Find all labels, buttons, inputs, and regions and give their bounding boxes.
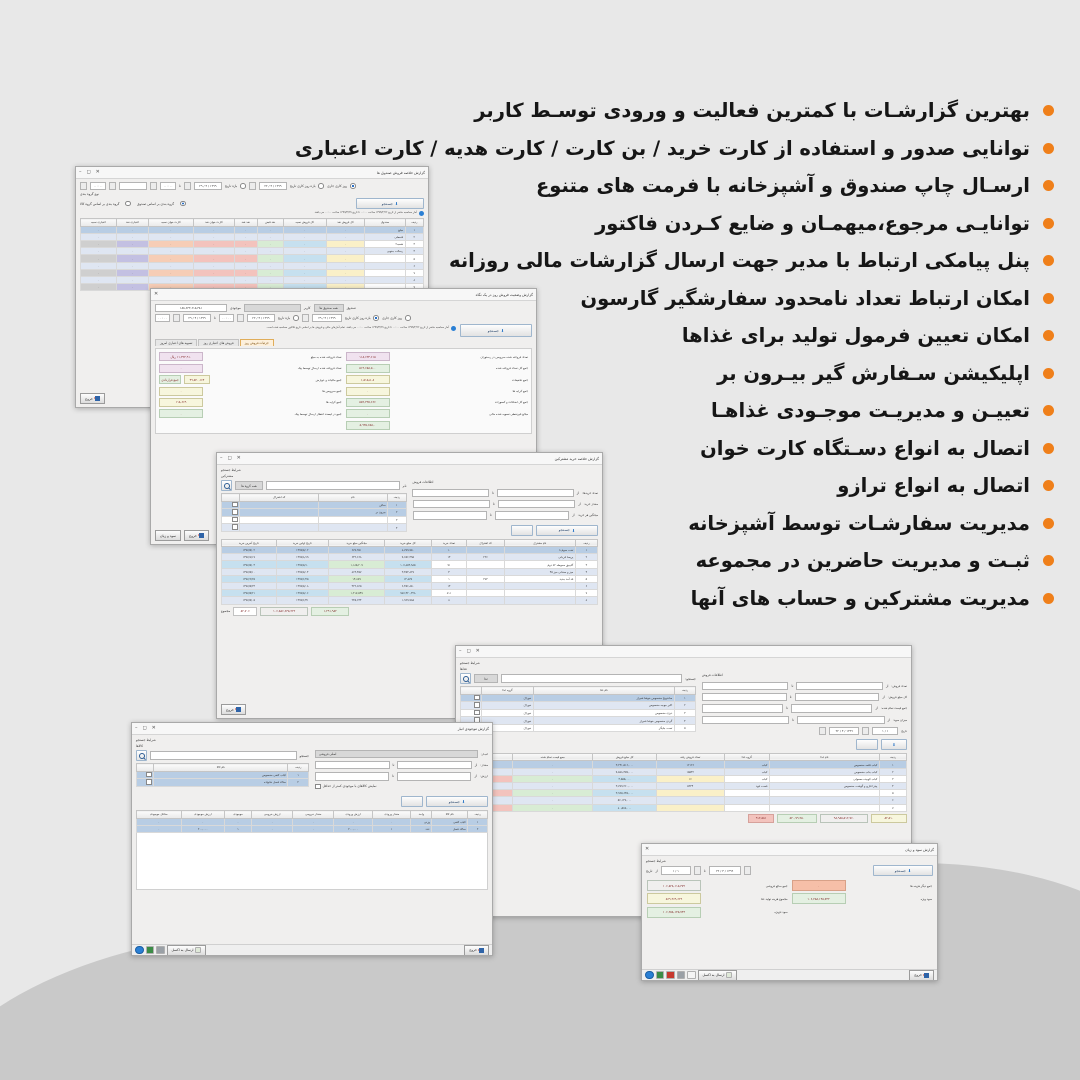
row-checkbox[interactable] [232, 509, 238, 515]
search-label: جستجو: [685, 677, 696, 681]
table-cell [724, 804, 769, 811]
goods-search-row: جستجو [136, 750, 309, 761]
date-spinner[interactable] [744, 866, 751, 874]
user-select[interactable] [244, 304, 301, 312]
table-cell: ۰ [116, 226, 148, 233]
titlebar: – ◻ ✕ [456, 646, 911, 658]
search-arrow-icon: ⬇ [892, 742, 895, 747]
table-cell: ۹۸۷,۴۲۰,۳۲۸ [385, 590, 431, 597]
row-checkbox-cell[interactable] [222, 509, 240, 517]
count-to-input[interactable] [702, 682, 789, 690]
table-cell: ۰ [251, 825, 293, 832]
search-button[interactable]: ⬇ جسـتجو [873, 865, 933, 876]
radio-from-work-day[interactable] [373, 315, 379, 321]
col-header: ارزش موجودی [181, 811, 224, 819]
excel-export-icon[interactable] [656, 971, 665, 980]
cost-to-input[interactable] [702, 704, 783, 712]
row-checkbox-cell[interactable] [222, 516, 240, 524]
clear-button[interactable] [401, 796, 423, 807]
table-cell: کباب بناب مخصوص [769, 768, 879, 775]
radio-from-work-day-label: بازه روز کاری تاریخ [345, 316, 371, 320]
from-label: از [882, 695, 884, 699]
table-cell: ۴ [431, 568, 467, 575]
minimize-icon[interactable]: – [459, 649, 462, 654]
row-checkbox-cell[interactable] [461, 694, 482, 702]
table-cell: ۱۳۹۷/۵/۱۰ [222, 568, 277, 575]
date-range-from-input[interactable]: ۱۳۹۹ / ۴ / ۲۹ [194, 182, 222, 190]
qty-from-input[interactable] [397, 761, 472, 769]
profit-field: جمع دیگر هزینه ها ۰ [792, 880, 933, 891]
send-excel-button[interactable]: ارسال به اکسل [167, 945, 207, 956]
table-cell: ۱,۹۶۹,۹۸۵ [385, 597, 431, 604]
table-cell: ۲۴۵,۶۴۴ [328, 597, 384, 604]
summary-field: جمع در لیست انتظار ارسال توسط پیک۰ [159, 409, 342, 418]
feature-item: مدیریت سفارشـات توسط آشپزخانه [494, 505, 1054, 543]
search-button[interactable]: ⬇ جسـتجو [426, 796, 488, 807]
qty-to-input[interactable] [315, 761, 390, 769]
table-header-row: ردیف نام کد اشتراک [222, 494, 407, 502]
col-header: تاریخ آخرین خرید [222, 539, 277, 547]
radio-group-cash-label: گروه بندی بر اساس صندوق [137, 202, 174, 206]
min-stock-checkbox-label: نمایش کالاهای با موجودی کمتر از حداقل [323, 784, 377, 788]
radio-group-type[interactable] [125, 201, 131, 207]
profit-field: سود ناویژه ۱۰۶,۲۵۸,۱۴۵,۷۴۳ [647, 907, 788, 918]
row-checkbox[interactable] [232, 517, 238, 523]
table-cell: ۰ [116, 241, 148, 248]
close-icon[interactable]: ✕ [237, 456, 241, 461]
table-row[interactable]: ۲فتحعلی۰۰۰۰۰۰۰۰ [81, 233, 424, 240]
col-header: گروه غذا [482, 687, 534, 695]
table-cell: ۰ [137, 825, 182, 832]
field-label: مجموع هزینه تولید غذا [704, 897, 788, 901]
page-spinner[interactable] [862, 727, 869, 735]
table-cell: کباب [724, 761, 769, 768]
field-label: جمع سرویس ها [206, 389, 342, 393]
date-to-input[interactable]: ۱۳۹۹ / ۴ / ۲۹ [183, 314, 211, 322]
price-to-input[interactable] [315, 772, 389, 780]
help-icon[interactable] [135, 946, 144, 955]
total-value: ۸۲,۵۱۰ [871, 814, 907, 823]
food-search-row: جستجو: غذا [460, 673, 696, 684]
profit-fields: جمع دیگر هزینه ها ۰ سود ویژه ۱۰۶,۲۵۸,۱۴۵… [646, 878, 933, 920]
radio-work-day[interactable] [350, 183, 356, 189]
foods-table[interactable]: ردیف نام غذا گروه غذا ۱ساندویچ مخصوص خوش… [460, 686, 696, 732]
row-checkbox[interactable] [232, 502, 238, 508]
window-title: گزارش سود و زیان [905, 848, 934, 852]
titlebar: گزارش سود و زیان ✕ [642, 844, 937, 856]
search-icon[interactable] [221, 480, 232, 491]
table-row[interactable]: ۲اکبر جوجه مخصوصخوراک [461, 702, 696, 710]
col-header: کل مبلغ خرید [385, 539, 431, 547]
table-cell: ۱۵۵۴۲ [656, 768, 724, 775]
table-row[interactable]: ۱مبلغ۰۰۰۰۰۰۰۰ [81, 226, 424, 233]
exit-button[interactable]: خروج [909, 970, 934, 981]
avg-to-input[interactable] [413, 511, 487, 519]
table-cell [365, 277, 405, 284]
subscriber-name-input[interactable] [266, 481, 400, 489]
table-cell: ۰ [193, 248, 234, 255]
date-from-spinner[interactable] [249, 182, 256, 190]
table-cell: ۰ [513, 775, 593, 782]
bullet-dot-icon [1043, 105, 1054, 116]
feature-list: بهترین گزارشـات با کمترین فعالیت و ورودی… [494, 92, 1054, 617]
window-body: شرایط جستجو ⬇ جسـتجو ۱۳۹۹ / ۴ / ۲۲ تا ۱ … [642, 856, 937, 923]
to-label: تا [704, 869, 706, 873]
table-cell: ۰ [148, 233, 193, 240]
food-select[interactable]: غذا [474, 674, 498, 682]
filters-title: شرایط جستجو [460, 661, 480, 665]
min-stock-checkbox[interactable] [315, 784, 321, 790]
col-header: نام غذا [769, 753, 879, 761]
table-row[interactable]: ۵۳,۹۶۵,۶۴۵,۰۰۰۰۴۵,۶۴۵,۰۰۰ [461, 790, 907, 797]
bullet-dot-icon [1043, 518, 1054, 529]
to-label: تا [490, 513, 492, 517]
amount-to-input[interactable] [413, 500, 490, 508]
close-icon[interactable]: ✕ [645, 847, 649, 852]
tabs[interactable]: جزئیات فروش روز فروش های اعتباری روز تسو… [155, 339, 532, 346]
table-cell [769, 797, 879, 804]
hour-from-input[interactable]: ۰۰ : ۰۰ [160, 182, 176, 190]
table-cell: ۰ [257, 255, 283, 262]
to-label: تا [786, 706, 788, 710]
row-checkbox-cell[interactable] [461, 709, 482, 717]
bullet-dot-icon [1043, 218, 1054, 229]
send-excel-button[interactable]: ارسال به اکسل [698, 970, 738, 981]
table-cell: ۰ [513, 804, 593, 811]
table-cell: ۹,۶۵۶,۴۹۵ [385, 554, 431, 561]
table-row[interactable]: ۴ [222, 524, 407, 532]
table-cell: ۰ [234, 255, 257, 262]
table-row[interactable]: ۲سالاد فصل خانواده [137, 779, 309, 787]
summary-field: جمع کرایه ها۱۱۸,۶۶۹ [159, 398, 342, 407]
minimize-icon[interactable]: – [220, 456, 223, 461]
table-row[interactable]: ۱کباب کتفی مخصوص [137, 771, 309, 779]
table-cell: ۰ [283, 226, 326, 233]
table-row[interactable]: ۲بیرون بر [222, 509, 407, 517]
date-main-input[interactable]: ۱۳۹۹ / ۴ / ۲۹ [312, 314, 342, 322]
row-checkbox[interactable] [146, 772, 152, 778]
tab-credit-settlements[interactable]: تسویه های اعتباری امروز [155, 339, 197, 346]
date-label: تاریخ [646, 869, 652, 873]
group-select[interactable]: همه گروه ها [235, 481, 263, 489]
minimize-icon[interactable]: – [135, 726, 138, 731]
date-from-input[interactable]: ۱۳۹۹ / ۴ / ۲۲ [259, 182, 287, 190]
date-from-spinner[interactable] [237, 314, 244, 322]
date-main-spinner[interactable] [302, 314, 309, 322]
table-cell: وزنی [411, 818, 432, 825]
table-cell: ۰ [257, 226, 283, 233]
exit-icon [236, 707, 241, 712]
feature-item: امکان ارتباط تعداد نامحدود سفارشگیر گارس… [494, 280, 1054, 318]
table-cell: ۸ [405, 277, 423, 284]
maximize-icon[interactable]: ◻ [228, 456, 232, 461]
tab-daily-details[interactable]: جزئیات فروش روز [240, 339, 274, 346]
table-row[interactable]: ۶۰۰۰۰۰۰۰۰ [81, 262, 424, 269]
table-row[interactable]: ۳کباب کوبیده معمولیکباب۱۶۳,۵۵۵,۰۰۰۰۳,۵۵۵… [461, 775, 907, 782]
table-row[interactable]: ۷۸۰,۵۸۹,۰۰۰۰۸۰,۵۹۹,۰۰۰ [461, 804, 907, 811]
window-buttons[interactable]: – ◻ ✕ [459, 649, 480, 654]
goods-search-input[interactable] [150, 751, 297, 759]
row-checkbox[interactable] [146, 779, 152, 785]
table-header-row: ردیف نام غذا گروه غذا تعداد فروش رفته کل… [461, 753, 907, 761]
cash-select[interactable]: همه صندوق ها [314, 304, 344, 312]
anbar-select[interactable]: اصلی فروشی [315, 750, 478, 758]
table-cell: ۲ [468, 825, 488, 832]
window-buttons[interactable]: – ◻ ✕ [135, 726, 156, 731]
table-cell [318, 516, 388, 524]
table-row[interactable]: ۴رسالت جنوبی۰۰۰۰۰۰۰۰ [81, 248, 424, 255]
table-cell: ۰ [193, 226, 234, 233]
page-input[interactable]: ۱ / ۱ [661, 866, 691, 874]
balance-value: ۱۸۸,۶۳۳,۶۱۵,۳۸۱ [155, 304, 227, 312]
table-row[interactable]: ۱کباب کتفیوزنی۰۰۰۰۰۰۰ [137, 818, 488, 825]
pdf-icon[interactable] [666, 971, 675, 980]
row-checkbox[interactable] [232, 524, 238, 530]
table-header-row: ردیف نام غذا گروه غذا [461, 687, 696, 695]
col-header: ارزش خروجی [251, 811, 293, 819]
row-checkbox-cell[interactable] [222, 524, 240, 532]
amount-to-input[interactable] [702, 693, 787, 701]
table-cell: گردن مخصوص خوشا شیراز [533, 717, 674, 725]
window-buttons[interactable]: – ◻ ✕ [220, 456, 241, 461]
table-row[interactable]: ۳شعبه۲۰۰۰۰۰۰۰۰ [81, 241, 424, 248]
table-row[interactable]: ۵تست جایگرخوراک [461, 724, 696, 732]
profit-field: جمع سالع فروشی ۱۰۶,۸۲۸,۱۱۵,۳۷۲ [647, 880, 788, 891]
table-cell: شعبه۲ [365, 241, 405, 248]
table-cell: ۰ [225, 818, 252, 825]
filters-title: شرایط جستجو [136, 738, 156, 742]
feature-item: اتصال به انواع دسـتگاه کارت خوان [494, 430, 1054, 468]
col-header: ردیف [388, 494, 406, 502]
filter-label: جمع قیمت تمام شده: [881, 706, 907, 710]
table-cell: ۰ [81, 241, 117, 248]
col-header: کارت خوان نقد [193, 219, 234, 227]
table-cell: ۶ [405, 262, 423, 269]
window-title: گزارش خلاصه فروش صندوق ها [377, 171, 425, 175]
help-icon[interactable] [645, 971, 654, 980]
page-input[interactable]: ۱ / ۱ [872, 727, 898, 735]
hour-to-input[interactable]: ۰۰ : ۰۰ [155, 314, 170, 322]
profit-field: مجموع هزینه تولید غذا ۵۶۹,۹۶۹,۶۲۹ [647, 893, 788, 904]
hour-from-spinner[interactable] [150, 182, 157, 190]
table-row[interactable]: ۱سالن [222, 501, 407, 509]
window-profit-loss[interactable]: گزارش سود و زیان ✕ شرایط جستجو ⬇ جسـتجو … [641, 843, 938, 981]
table-row[interactable]: ۷۰۰۰۰۰۰۰۰ [81, 269, 424, 276]
summary-fields: تعداد فروخته شده سرویس در رستوران۱۱۸,۶۳۳… [155, 348, 532, 433]
profit-loss-button[interactable]: سود و زیان [155, 530, 181, 541]
table-cell: ۰ [81, 269, 117, 276]
close-icon[interactable]: ✕ [152, 726, 156, 731]
exit-button[interactable]: خروج [80, 393, 105, 404]
minimize-icon[interactable]: – [79, 170, 82, 175]
search-button[interactable]: ⬇ جسـتجو [356, 198, 424, 209]
table-row[interactable]: ۴گردن مخصوص خوشا شیرازخوراک [461, 717, 696, 725]
tab-credit-sales[interactable]: فروش های اعتباری روز [198, 339, 238, 346]
close-icon[interactable]: ✕ [154, 292, 158, 297]
table-row[interactable]: ۳دیزی مخصوصخوراک [461, 709, 696, 717]
table-cell: ۶,۴۵۶,۸۵۰ [385, 583, 431, 590]
date-range-to-input[interactable] [119, 182, 147, 190]
page-spinner[interactable] [694, 866, 701, 874]
close-icon[interactable]: ✕ [476, 649, 480, 654]
amount-from-input[interactable] [795, 693, 880, 701]
maximize-icon[interactable]: ◻ [143, 726, 147, 731]
row-checkbox[interactable] [474, 710, 480, 716]
table-cell: ۱۲۱۲۶ [656, 761, 724, 768]
exit-button[interactable]: خروج [221, 704, 246, 715]
from-label: از [888, 718, 890, 722]
table-row[interactable]: ۵۰۰۰۰۰۰۰۰ [81, 255, 424, 262]
exit-label: خروج [469, 948, 477, 952]
cash-summary-table[interactable]: ردیف صندوق کل فروش نقد کل فروش نسیه نقد … [80, 218, 424, 291]
table-cell: ۵۲۴۴ [656, 783, 724, 790]
total-value: ۹۱۲,۵۸۱ [748, 814, 774, 823]
summary-field: جمع سرویس ها۰ [159, 387, 342, 396]
feature-label: مدیریت مشترکین و حساب های آنها [691, 589, 1030, 609]
clear-button[interactable] [856, 739, 878, 750]
window-buttons[interactable]: – ◻ ✕ [79, 170, 100, 175]
table-row[interactable]: ۲کباب بناب مخصوصکباب۱۵۵۴۲۹,۵۸۸,۳۵۹,۰۰۰۰۸… [461, 768, 907, 775]
toolbar-icons[interactable]: ارسال به اکسل [135, 945, 206, 956]
goods-table[interactable]: ردیف نام کالا ۱کباب کتفی مخصوص۲سالاد فصل… [136, 763, 309, 787]
table-cell: ۷ [405, 269, 423, 276]
radio-group-cash[interactable] [180, 201, 186, 207]
to-label: تا [392, 774, 394, 778]
window-body: شرایط جستجو کالاها انبــار: اصلی فروشی م… [132, 735, 492, 893]
date-input[interactable]: ۱۳۹۹ / ۴ / ۲۲ [709, 866, 741, 874]
table-row[interactable]: ۱ساندویچ مخصوص خوشا شیرازخوراک [461, 694, 696, 702]
row-checkbox-cell[interactable] [461, 702, 482, 710]
table-cell: ۱۳۹۷/۶/۲۵ [276, 575, 328, 582]
table-cell: فتحعلی [365, 233, 405, 240]
close-icon[interactable]: ✕ [96, 170, 100, 175]
window-buttons[interactable]: ✕ [645, 847, 649, 852]
table-cell: ۲ [388, 509, 406, 517]
total-value: ۱,۲۹۱,۹۸۲ [311, 607, 349, 616]
field-value: ۰ [346, 387, 390, 396]
exit-icon [199, 533, 204, 538]
table-row[interactable]: ۶۵۶,۱۲۹,۰۰۰۰۵۶,۱۲۹,۰۰۰ [461, 797, 907, 804]
search-button[interactable]: ⬇ [881, 739, 907, 750]
subscribers-table[interactable]: ردیف نام کد اشتراک ۱سالن۲بیرون بر۳۴ [221, 493, 407, 532]
maximize-icon[interactable]: ◻ [87, 170, 91, 175]
table-cell: ۱۳۹۷/۵/۰۲ [222, 547, 277, 554]
name-label: نام [403, 484, 407, 488]
row-checkbox-cell[interactable] [137, 771, 154, 779]
row-checkbox-cell[interactable] [222, 501, 240, 509]
table-cell: ۰ [326, 262, 365, 269]
col-header: ردیف [674, 687, 695, 695]
exit-button[interactable]: خروج [464, 945, 489, 956]
print-icon[interactable] [677, 971, 686, 980]
table-cell: ۰ [116, 233, 148, 240]
field-value: ۴۹,۵۲۰,۱۶۴ [184, 375, 210, 384]
search-icon[interactable] [460, 673, 471, 684]
table-cell: ۰ [283, 277, 326, 284]
hour-to-input[interactable]: ۰۰ : ۰۰ [90, 182, 106, 190]
price-from-input[interactable] [397, 772, 471, 780]
date-to-spinner[interactable] [173, 314, 180, 322]
excel-export-icon[interactable] [146, 946, 155, 955]
table-cell: ۰ [234, 248, 257, 255]
date-range-to-spinner[interactable] [109, 182, 116, 190]
table-row[interactable]: ۱کباب قلمه مخصوصکباب۱۲۱۲۶۳,۲۴۱,۵۱۶,۰۰۰۰۴… [461, 761, 907, 768]
profit-from-input[interactable] [797, 716, 884, 724]
exit-button[interactable]: خروج [184, 530, 209, 541]
inventory-table[interactable]: ردیف نام کالا واحد مقدار ورودی ارزش ورود… [136, 810, 488, 833]
feature-label: پنل پیامکی ارتباط با مدیر جهت ارسال گزار… [449, 251, 1030, 271]
profit-to-input[interactable] [702, 716, 789, 724]
table-row[interactable]: ۲سالاد فصلعدد۱۲۰۰,۰۰۰۰۰۱۲۰۰,۰۰۰۰ [137, 825, 488, 832]
toolbar-icons[interactable]: ارسال به اکسل [645, 970, 737, 981]
filter-row: جمع قیمت تمام شده:ازتا [702, 704, 907, 712]
table-cell: ۰ [148, 269, 193, 276]
count-to-input[interactable] [412, 489, 489, 497]
table-cell: کباب [724, 775, 769, 782]
table-cell: ۱۳۹۷/۵/۰۲ [276, 547, 328, 554]
maximize-icon[interactable]: ◻ [467, 649, 471, 654]
col-header: موجودی [225, 811, 252, 819]
cost-from-input[interactable] [791, 704, 872, 712]
radio-work-day[interactable] [405, 315, 411, 321]
hour-from-input[interactable]: ۰۰ : ۰۰ [219, 314, 234, 322]
date-spinner[interactable] [819, 727, 826, 735]
print-icon[interactable] [156, 946, 165, 955]
sales-info-label: اطلاعات فروش [702, 673, 723, 677]
table-row[interactable]: ۴پیتزا قارچ و گوشت مخصوصفست فود۵۲۴۴۳,۷۷۹… [461, 783, 907, 790]
field-value: ۱۱,۳۹۳,۹۱۰ ریال [159, 352, 203, 361]
radio-group-type-label: گروه بندی بر اساس گروه کالا [80, 202, 119, 206]
from-label: از [655, 869, 657, 873]
table-cell: ۰ [513, 768, 593, 775]
radio-from-work-day[interactable] [318, 183, 324, 189]
hour-to-spinner[interactable] [80, 182, 87, 190]
table-cell: ۰ [148, 226, 193, 233]
table-cell: ۰ [148, 277, 193, 284]
radio-date-range-label: بازه تاریخ [278, 316, 290, 320]
col-header: نام کالا [432, 811, 468, 819]
table-row[interactable]: ۸۰۰۰۰۰۰۰۰ [81, 277, 424, 284]
window-buttons[interactable]: ✕ [154, 292, 158, 297]
table-cell: ۰ [193, 269, 234, 276]
settings-icon[interactable] [687, 971, 696, 980]
table-cell: مبلغ [365, 226, 405, 233]
radio-date-range[interactable] [293, 315, 299, 321]
col-header: نام [318, 494, 388, 502]
row-checkbox[interactable] [474, 702, 480, 708]
table-cell: ۰ [326, 277, 365, 284]
table-empty-area [136, 833, 488, 890]
date-range-from-spinner[interactable] [184, 182, 191, 190]
food-profit-table[interactable]: ردیف نام غذا گروه غذا تعداد فروش رفته کل… [460, 753, 907, 812]
table-cell: ۰ [513, 790, 593, 797]
search-icon[interactable] [136, 750, 147, 761]
table-cell: ۱۴,۸۷۹ [385, 575, 431, 582]
window-inventory-report[interactable]: گزارش موجودی انبار – ◻ ✕ شرایط جستجو کال… [131, 722, 493, 956]
table-cell: ۵ [405, 255, 423, 262]
row-checkbox-cell[interactable] [137, 779, 154, 787]
table-cell: خوراک [482, 709, 534, 717]
food-search-input[interactable] [501, 674, 682, 682]
table-row[interactable]: ۳ [222, 516, 407, 524]
radio-date-range[interactable] [240, 183, 246, 189]
count-from-input[interactable] [796, 682, 883, 690]
date-input[interactable]: ۱۳۹۹ / ۴ / ۲۲ [829, 727, 859, 735]
table-cell: ۱ [879, 761, 906, 768]
row-checkbox[interactable] [474, 695, 480, 701]
feature-label: توانایی صدور و استفاده از کارت خرید / بن… [295, 139, 1030, 159]
date-from-input[interactable]: ۱۳۹۹ / ۴ / ۲۲ [247, 314, 275, 322]
